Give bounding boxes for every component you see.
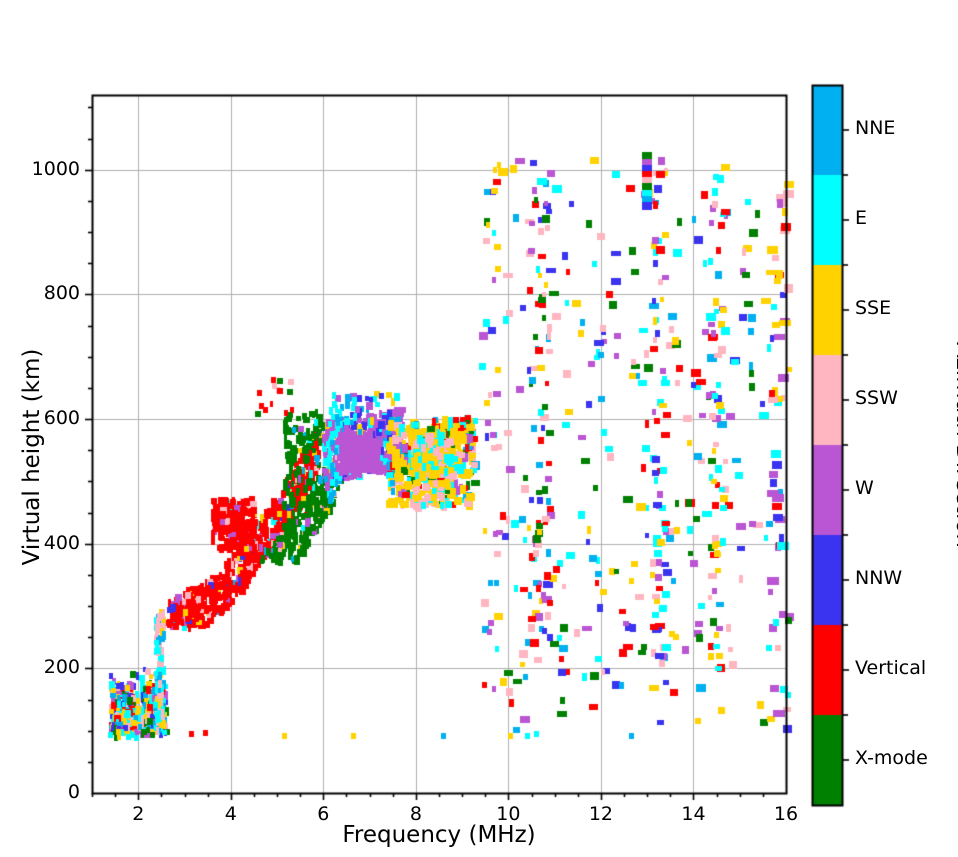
- x-tick-label-4: 4: [201, 803, 261, 825]
- x-tick-label-6: 6: [293, 803, 353, 825]
- x-tick-label-2: 2: [108, 803, 168, 825]
- x-axis-label: Frequency (MHz): [92, 822, 786, 848]
- y-tick-label-600: 600: [8, 407, 80, 429]
- x-tick-label-14: 14: [663, 803, 723, 825]
- colorbar-tick-label-nne: NNE: [855, 117, 958, 139]
- colorbar-tick-label-vertical: Vertical: [855, 657, 958, 679]
- colorbar-tick-label-sse: SSE: [855, 297, 958, 319]
- y-tick-label-400: 400: [8, 532, 80, 554]
- y-tick-label-1000: 1000: [8, 158, 80, 180]
- colorbar-tick-label-w: W: [855, 477, 958, 499]
- ionogram-figure: NAL CADI - Sep 17 08:45:00 2025 UTC Virt…: [0, 0, 958, 857]
- y-tick-label-800: 800: [8, 282, 80, 304]
- x-tick-label-12: 12: [571, 803, 631, 825]
- colorbar-tick-label-nnw: NNW: [855, 567, 958, 589]
- colorbar-tick-label-ssw: SSW: [855, 387, 958, 409]
- colorbar-tick-label-e: E: [855, 207, 958, 229]
- x-tick-label-16: 16: [756, 803, 816, 825]
- y-tick-label-200: 200: [8, 656, 80, 678]
- x-tick-label-10: 10: [478, 803, 538, 825]
- x-tick-label-8: 8: [386, 803, 446, 825]
- ionogram-plot-canvas: [0, 0, 958, 857]
- colorbar-tick-label-x-mode: X-mode: [855, 747, 958, 769]
- y-tick-label-0: 0: [8, 781, 80, 803]
- y-axis-label: Virtual height (km): [19, 277, 45, 637]
